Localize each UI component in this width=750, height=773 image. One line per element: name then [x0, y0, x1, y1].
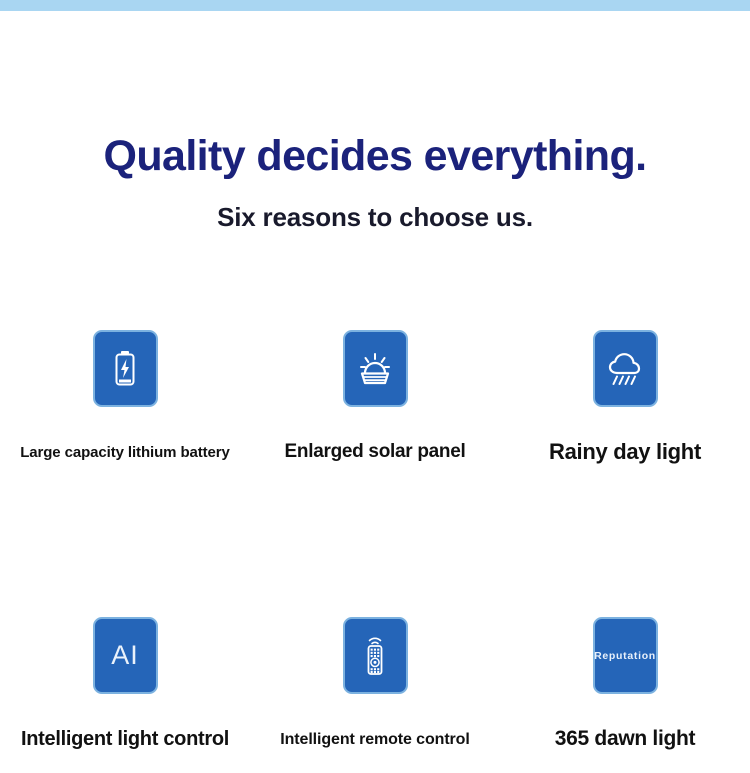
features-row-1: Large capacity lithium battery [0, 330, 750, 465]
top-accent-bar [0, 0, 750, 11]
headings-block: Quality decides everything. Six reasons … [0, 132, 750, 233]
feature-item-ai-light-control: AI Intelligent light control [0, 617, 250, 751]
page-title: Quality decides everything. [0, 132, 750, 180]
feature-item-solar-panel: Enlarged solar panel [250, 330, 500, 465]
feature-label: Intelligent remote control [280, 731, 469, 749]
solar-panel-sun-icon [357, 352, 393, 386]
feature-item-rainy-day: Rainy day light [500, 330, 750, 465]
feature-label: Enlarged solar panel [285, 441, 466, 463]
feature-icon-tile [343, 617, 408, 694]
feature-icon-tile [93, 330, 158, 407]
features-row-2: AI Intelligent light control [0, 617, 750, 751]
feature-icon-tile [593, 330, 658, 407]
rain-cloud-icon [606, 351, 644, 387]
remote-control-icon [361, 634, 389, 678]
feature-icon-tile: Reputation [593, 617, 658, 694]
page-subtitle: Six reasons to choose us. [0, 202, 750, 233]
battery-charging-icon [110, 349, 140, 389]
ai-text-icon: AI [111, 640, 139, 671]
feature-item-remote-control: Intelligent remote control [250, 617, 500, 751]
feature-icon-tile: AI [93, 617, 158, 694]
feature-label: Rainy day light [549, 439, 701, 465]
feature-item-battery: Large capacity lithium battery [0, 330, 250, 465]
reputation-text-icon: Reputation [594, 650, 656, 662]
promo-page: { "page": { "title": "Quality decides ev… [0, 0, 750, 773]
feature-item-reputation: Reputation 365 dawn light [500, 617, 750, 751]
feature-label: Intelligent light control [21, 728, 229, 751]
feature-label: 365 dawn light [555, 727, 696, 751]
feature-label: Large capacity lithium battery [20, 444, 230, 461]
feature-icon-tile [343, 330, 408, 407]
features-grid: Large capacity lithium battery [0, 330, 750, 751]
